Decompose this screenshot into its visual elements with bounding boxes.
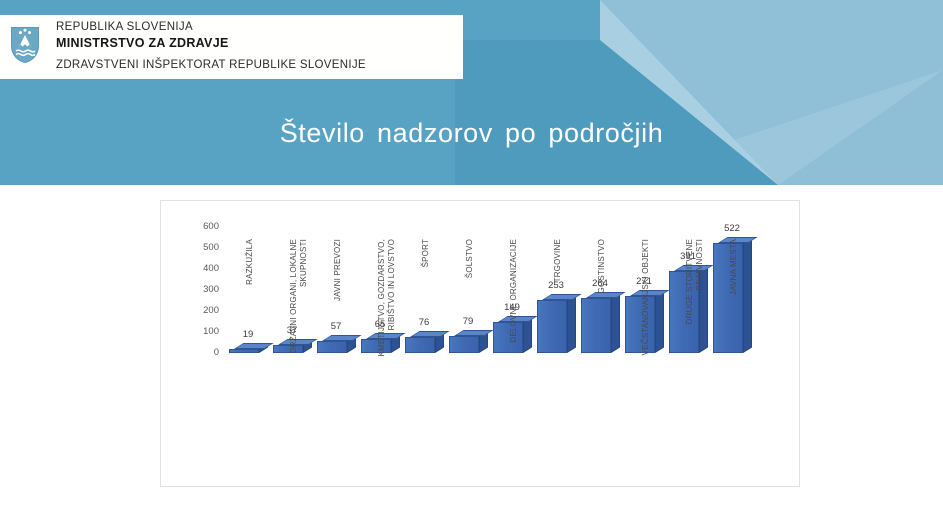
x-axis-label-1: DRŽAVNI ORGANI, LOKALNESKUPNOSTI xyxy=(289,237,308,357)
chart-y-axis: 6005004003002001000 xyxy=(179,201,219,488)
x-axis-label-line: DRŽAVNI ORGANI, LOKALNE xyxy=(289,239,299,357)
republika-slovenija-label: REPUBLIKA SLOVENIJA xyxy=(56,20,366,35)
bar-front-face xyxy=(581,298,611,353)
x-axis-label-4: ŠPORT xyxy=(421,237,431,357)
x-axis-label-6: DELOVNE ORGANIZACIJE xyxy=(509,237,519,357)
bar-front-face xyxy=(405,337,435,353)
x-axis-label-3: KMETIJSTVO, GOZDARSTVO,RIBIŠTVO IN LOVST… xyxy=(377,237,396,357)
x-axis-label-11: JAVNA MESTA xyxy=(729,237,739,357)
x-axis-label-7: TRGOVINE xyxy=(553,237,563,357)
bar-front-face xyxy=(449,336,479,353)
x-axis-label-line: GOSTINSTVO xyxy=(597,239,607,357)
y-axis-tick-300: 300 xyxy=(185,285,219,295)
x-axis-label-line: KMETIJSTVO, GOZDARSTVO, xyxy=(377,239,387,357)
bar-side-face xyxy=(567,294,576,353)
bar-value-label: 522 xyxy=(710,223,754,234)
x-axis-label-line: DELOVNE ORGANIZACIJE xyxy=(509,239,519,357)
x-axis-label-10: DRUGE STORITVENEDEJAVNOSTI xyxy=(685,237,704,357)
x-axis-label-line: ŠOLSTVO xyxy=(465,239,475,357)
y-axis-tick-0: 0 xyxy=(185,348,219,358)
y-axis-tick-200: 200 xyxy=(185,306,219,316)
x-axis-label-line: SKUPNOSTI xyxy=(299,239,309,357)
x-axis-label-line: RAZKUŽILA xyxy=(245,239,255,357)
bar-front-face xyxy=(537,300,567,353)
ministry-text-block: REPUBLIKA SLOVENIJA MINISTRSTVO ZA ZDRAV… xyxy=(56,20,366,73)
y-axis-tick-600: 600 xyxy=(185,222,219,232)
x-axis-label-line: RIBIŠTVO IN LOVSTVO xyxy=(387,239,397,357)
x-axis-label-line: TRGOVINE xyxy=(553,239,563,357)
x-axis-label-8: GOSTINSTVO xyxy=(597,237,607,357)
page-title: Število nadzorov po področjih xyxy=(0,118,943,149)
x-axis-label-line: JAVNA MESTA xyxy=(729,239,739,357)
bar-front-face xyxy=(317,341,347,353)
x-axis-label-9: VEČSTANOVANJSKI OBJEKTI xyxy=(641,237,651,357)
x-axis-label-line: JAVNI PREVOZI xyxy=(333,239,343,357)
x-axis-label-line: DRUGE STORITVENE xyxy=(685,239,695,357)
x-axis-label-2: JAVNI PREVOZI xyxy=(333,237,343,357)
x-axis-label-line: ŠPORT xyxy=(421,239,431,357)
bar-front-face xyxy=(713,243,743,353)
bar-front-face xyxy=(625,296,655,353)
x-axis-label-0: RAZKUŽILA xyxy=(245,237,255,357)
x-axis-label-5: ŠOLSTVO xyxy=(465,237,475,357)
y-axis-tick-500: 500 xyxy=(185,243,219,253)
x-axis-label-line: VEČSTANOVANJSKI OBJEKTI xyxy=(641,239,651,357)
bar-front-face xyxy=(229,349,259,353)
inspectorate-name-label: ZDRAVSTVENI INŠPEKTORAT REPUBLIKE SLOVEN… xyxy=(56,58,366,73)
ministry-logo-box: REPUBLIKA SLOVENIJA MINISTRSTVO ZA ZDRAV… xyxy=(0,15,463,79)
chart-plot-area: 6005004003002001000 19375765767914925326… xyxy=(161,201,801,488)
bar-front-face xyxy=(493,322,523,353)
bar-side-face xyxy=(743,238,752,353)
x-axis-label-line: DEJAVNOSTI xyxy=(695,239,705,357)
bar-side-face xyxy=(611,292,620,353)
y-axis-tick-400: 400 xyxy=(185,264,219,274)
bar-side-face xyxy=(655,290,664,353)
ministry-name-label: MINISTRSTVO ZA ZDRAVJE xyxy=(56,35,366,51)
slovenia-coat-of-arms-icon xyxy=(10,26,40,64)
y-axis-tick-100: 100 xyxy=(185,327,219,337)
chart-container: 6005004003002001000 19375765767914925326… xyxy=(160,200,800,487)
